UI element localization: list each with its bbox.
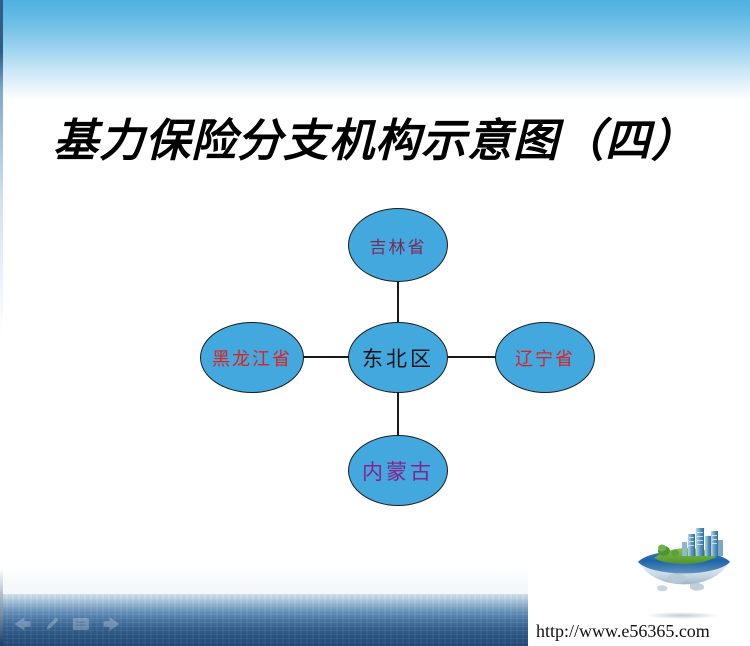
slide-left-edge <box>0 0 3 646</box>
diagram-node-liaoning[interactable]: 辽宁省 <box>495 322 595 393</box>
connector-center-to-neimenggu <box>397 389 399 437</box>
diagram-node-label: 黑龙江省 <box>212 345 292 371</box>
slideshow-navigation-bar[interactable] <box>12 616 122 632</box>
diagram-node-label: 内蒙古 <box>362 456 434 486</box>
page-title: 基力保险分支机构示意图（四） <box>0 104 750 169</box>
connector-center-to-jilin <box>397 278 399 326</box>
presentation-slide: 基力保险分支机构示意图（四） 吉林省 黑龙江省 东北区 辽宁省 内蒙古 <box>0 0 750 646</box>
connector-center-to-heilongjiang <box>300 356 350 358</box>
next-arrow-icon[interactable] <box>102 617 122 631</box>
globe-city-graphic <box>632 524 736 616</box>
diagram-node-label: 辽宁省 <box>515 345 575 371</box>
previous-arrow-icon[interactable] <box>12 617 32 631</box>
menu-box-icon[interactable] <box>72 617 90 631</box>
diagram-node-label: 吉林省 <box>370 233 427 258</box>
diagram-node-label: 东北区 <box>362 343 434 373</box>
watermark-url: http://www.e56365.com <box>536 621 710 642</box>
pen-icon[interactable] <box>44 616 60 632</box>
diagram-node-neimenggu[interactable]: 内蒙古 <box>348 435 448 506</box>
diagram-node-center-northeast-region[interactable]: 东北区 <box>348 322 448 393</box>
diagram-node-jilin[interactable]: 吉林省 <box>348 208 448 282</box>
connector-center-to-liaoning <box>446 356 497 358</box>
watermark-panel: http://www.e56365.com <box>528 520 750 646</box>
diagram-node-heilongjiang[interactable]: 黑龙江省 <box>200 322 304 393</box>
